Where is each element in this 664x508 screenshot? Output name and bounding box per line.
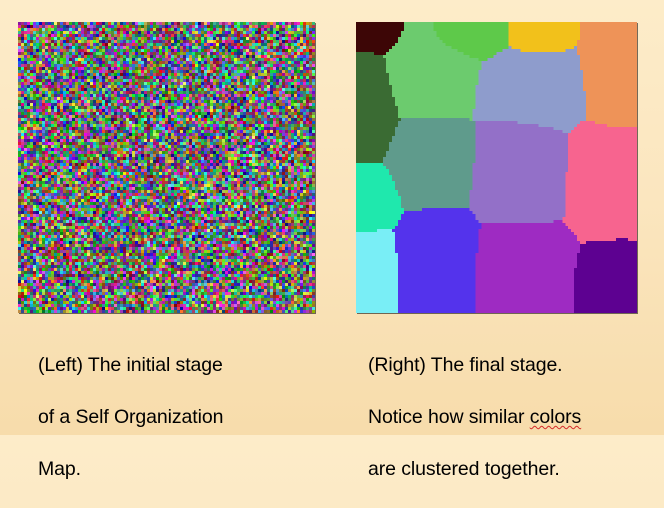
left-figure-caption: (Left) The initial stage of a Self Organ… <box>38 326 338 508</box>
som-final-stage-image <box>356 22 637 313</box>
caption-right-line-3: are clustered together. <box>368 456 660 482</box>
som-initial-stage-image <box>18 22 315 313</box>
caption-left-line-2: of a Self Organization <box>38 404 338 430</box>
caption-right-line-2: Notice how similar colors <box>368 404 660 430</box>
caption-right-line-2-text: Notice how similar <box>368 406 530 428</box>
som-final-clusters-canvas <box>356 22 637 313</box>
som-initial-noise-canvas <box>18 22 315 313</box>
slide-canvas: (Left) The initial stage of a Self Organ… <box>0 0 664 435</box>
caption-left-line-3: Map. <box>38 456 338 482</box>
caption-left-line-1: (Left) The initial stage <box>38 352 338 378</box>
right-figure-caption: (Right) The final stage. Notice how simi… <box>368 326 660 508</box>
misspelled-word-colors: colors <box>530 406 581 428</box>
caption-right-line-1: (Right) The final stage. <box>368 352 660 378</box>
